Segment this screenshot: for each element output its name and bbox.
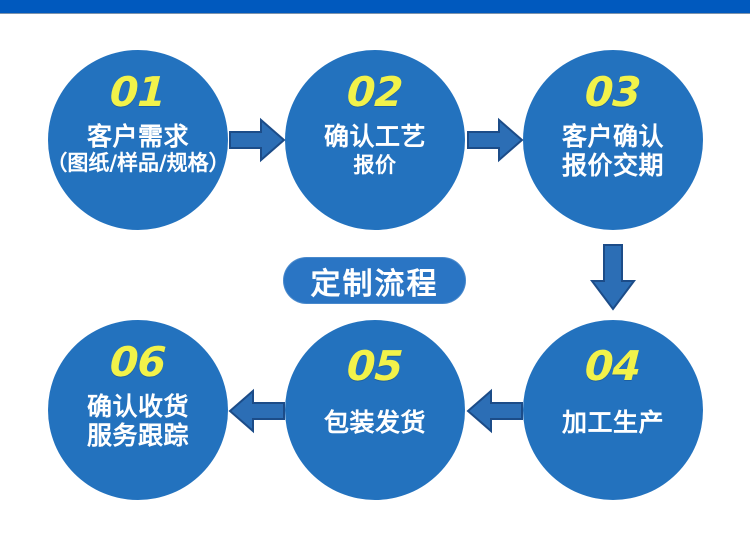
arrow-left-icon-2 (228, 388, 286, 434)
step-number-02: 02 (346, 72, 403, 113)
step-label-06-line1: 确认收货 (87, 392, 189, 421)
step-label-02-line1: 确认工艺 (324, 122, 426, 151)
step-label-05: 包装发货 (324, 396, 426, 437)
step-label-03: 客户确认 报价交期 (562, 122, 664, 180)
step-label-02-line2: 报价 (324, 153, 426, 177)
step-number-06: 06 (109, 342, 166, 383)
flowchart-canvas: 01 客户需求 （图纸/样品/规格） 02 确认工艺 报价 03 客户确认 报价… (0, 0, 750, 548)
top-blue-stripe (0, 0, 750, 13)
step-label-06-line2: 服务跟踪 (87, 421, 189, 450)
step-label-01-line1: 客户需求 (46, 122, 229, 151)
step-label-06: 确认收货 服务跟踪 (87, 392, 189, 450)
arrow-down-icon (588, 243, 638, 313)
arrow-right-icon-1 (228, 117, 286, 163)
step-circle-03[interactable]: 03 客户确认 报价交期 (523, 50, 703, 230)
step-label-03-line1: 客户确认 (562, 122, 664, 151)
arrow-right-icon-2 (466, 117, 524, 163)
step-label-02: 确认工艺 报价 (324, 122, 426, 177)
step-label-04-line1: 加工生产 (562, 408, 664, 437)
step-label-03-line2: 报价交期 (562, 151, 664, 180)
step-label-01: 客户需求 （图纸/样品/规格） (46, 122, 229, 175)
step-circle-02[interactable]: 02 确认工艺 报价 (285, 50, 465, 230)
step-circle-01[interactable]: 01 客户需求 （图纸/样品/规格） (48, 50, 228, 230)
step-circle-06[interactable]: 06 确认收货 服务跟踪 (48, 320, 228, 500)
step-number-04: 04 (584, 346, 641, 387)
step-number-03: 03 (584, 72, 641, 113)
center-badge-label: 定制流程 (311, 259, 439, 303)
step-circle-05[interactable]: 05 包装发货 (285, 320, 465, 500)
step-label-01-line2: （图纸/样品/规格） (46, 151, 229, 175)
step-number-01: 01 (109, 72, 166, 113)
step-label-05-line1: 包装发货 (324, 408, 426, 437)
top-stripe-edge-line (0, 13, 750, 14)
step-label-04: 加工生产 (562, 396, 664, 437)
center-badge: 定制流程 (283, 257, 466, 304)
step-number-05: 05 (346, 346, 403, 387)
step-circle-04[interactable]: 04 加工生产 (523, 320, 703, 500)
arrow-left-icon-1 (466, 388, 524, 434)
